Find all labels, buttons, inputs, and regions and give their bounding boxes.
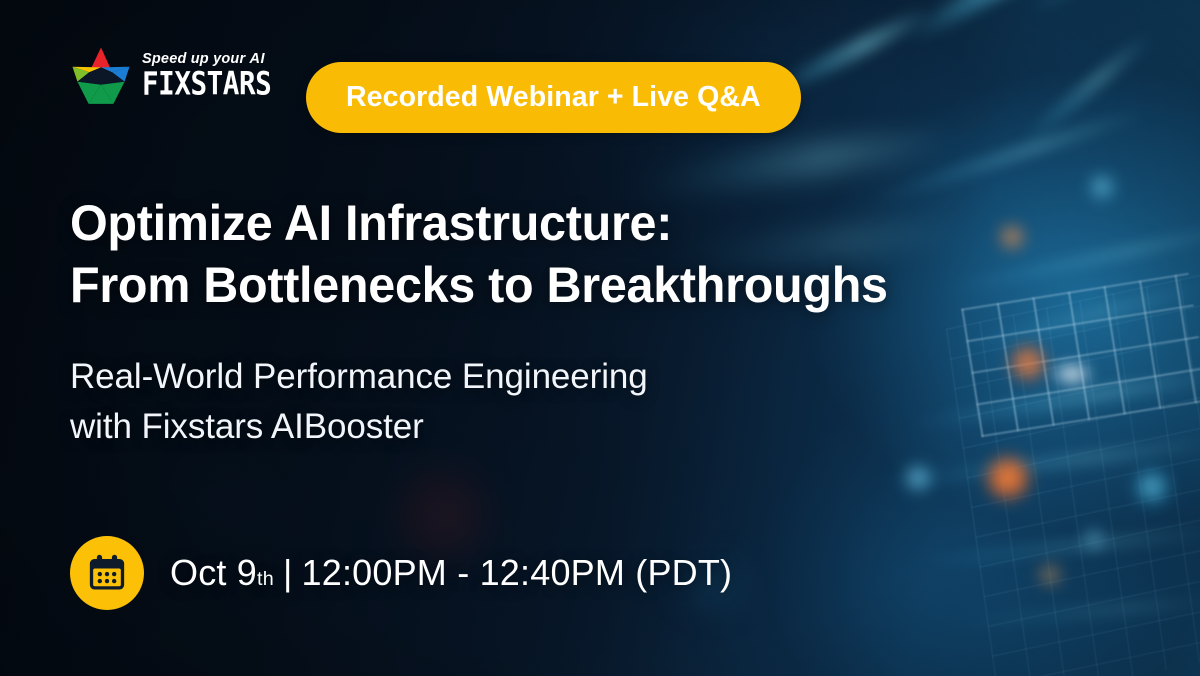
banner-content: Speed up your AI FIXSTARS Recorded Webin… (0, 0, 1200, 676)
page-subtitle-line-1: Real-World Performance Engineering (70, 352, 648, 402)
page-subtitle: Real-World Performance Engineering with … (70, 352, 648, 451)
event-datetime: Oct 9th | 12:00PM - 12:40PM (PDT) (70, 536, 732, 610)
logo-tagline-prefix: Speed up your (142, 51, 250, 67)
fixstars-wordmark: FIXSTARS (142, 69, 271, 101)
event-datetime-text: Oct 9th | 12:00PM - 12:40PM (PDT) (170, 552, 732, 594)
event-datetime-separator: | (283, 552, 293, 594)
fixstars-logo-text: Speed up your AI FIXSTARS (142, 52, 283, 101)
event-time-range: 12:00PM - 12:40PM (PDT) (302, 552, 733, 594)
webinar-type-badge[interactable]: Recorded Webinar + Live Q&A (306, 62, 801, 133)
page-title: Optimize AI Infrastructure: From Bottlen… (70, 192, 888, 316)
fixstars-star-icon (70, 46, 132, 106)
webinar-banner: Speed up your AI FIXSTARS Recorded Webin… (0, 0, 1200, 676)
calendar-icon-badge (70, 536, 144, 610)
page-title-line-2: From Bottlenecks to Breakthroughs (70, 254, 888, 316)
logo-tagline-emphasis: AI (250, 51, 266, 67)
fixstars-logo[interactable]: Speed up your AI FIXSTARS (70, 46, 283, 106)
webinar-type-badge-label: Recorded Webinar + Live Q&A (346, 81, 761, 114)
calendar-icon (86, 552, 128, 594)
event-date: Oct 9 (170, 552, 257, 594)
page-title-line-1: Optimize AI Infrastructure: (70, 195, 672, 251)
page-subtitle-line-2: with Fixstars AIBooster (70, 402, 648, 452)
logo-tagline: Speed up your AI (142, 52, 283, 67)
